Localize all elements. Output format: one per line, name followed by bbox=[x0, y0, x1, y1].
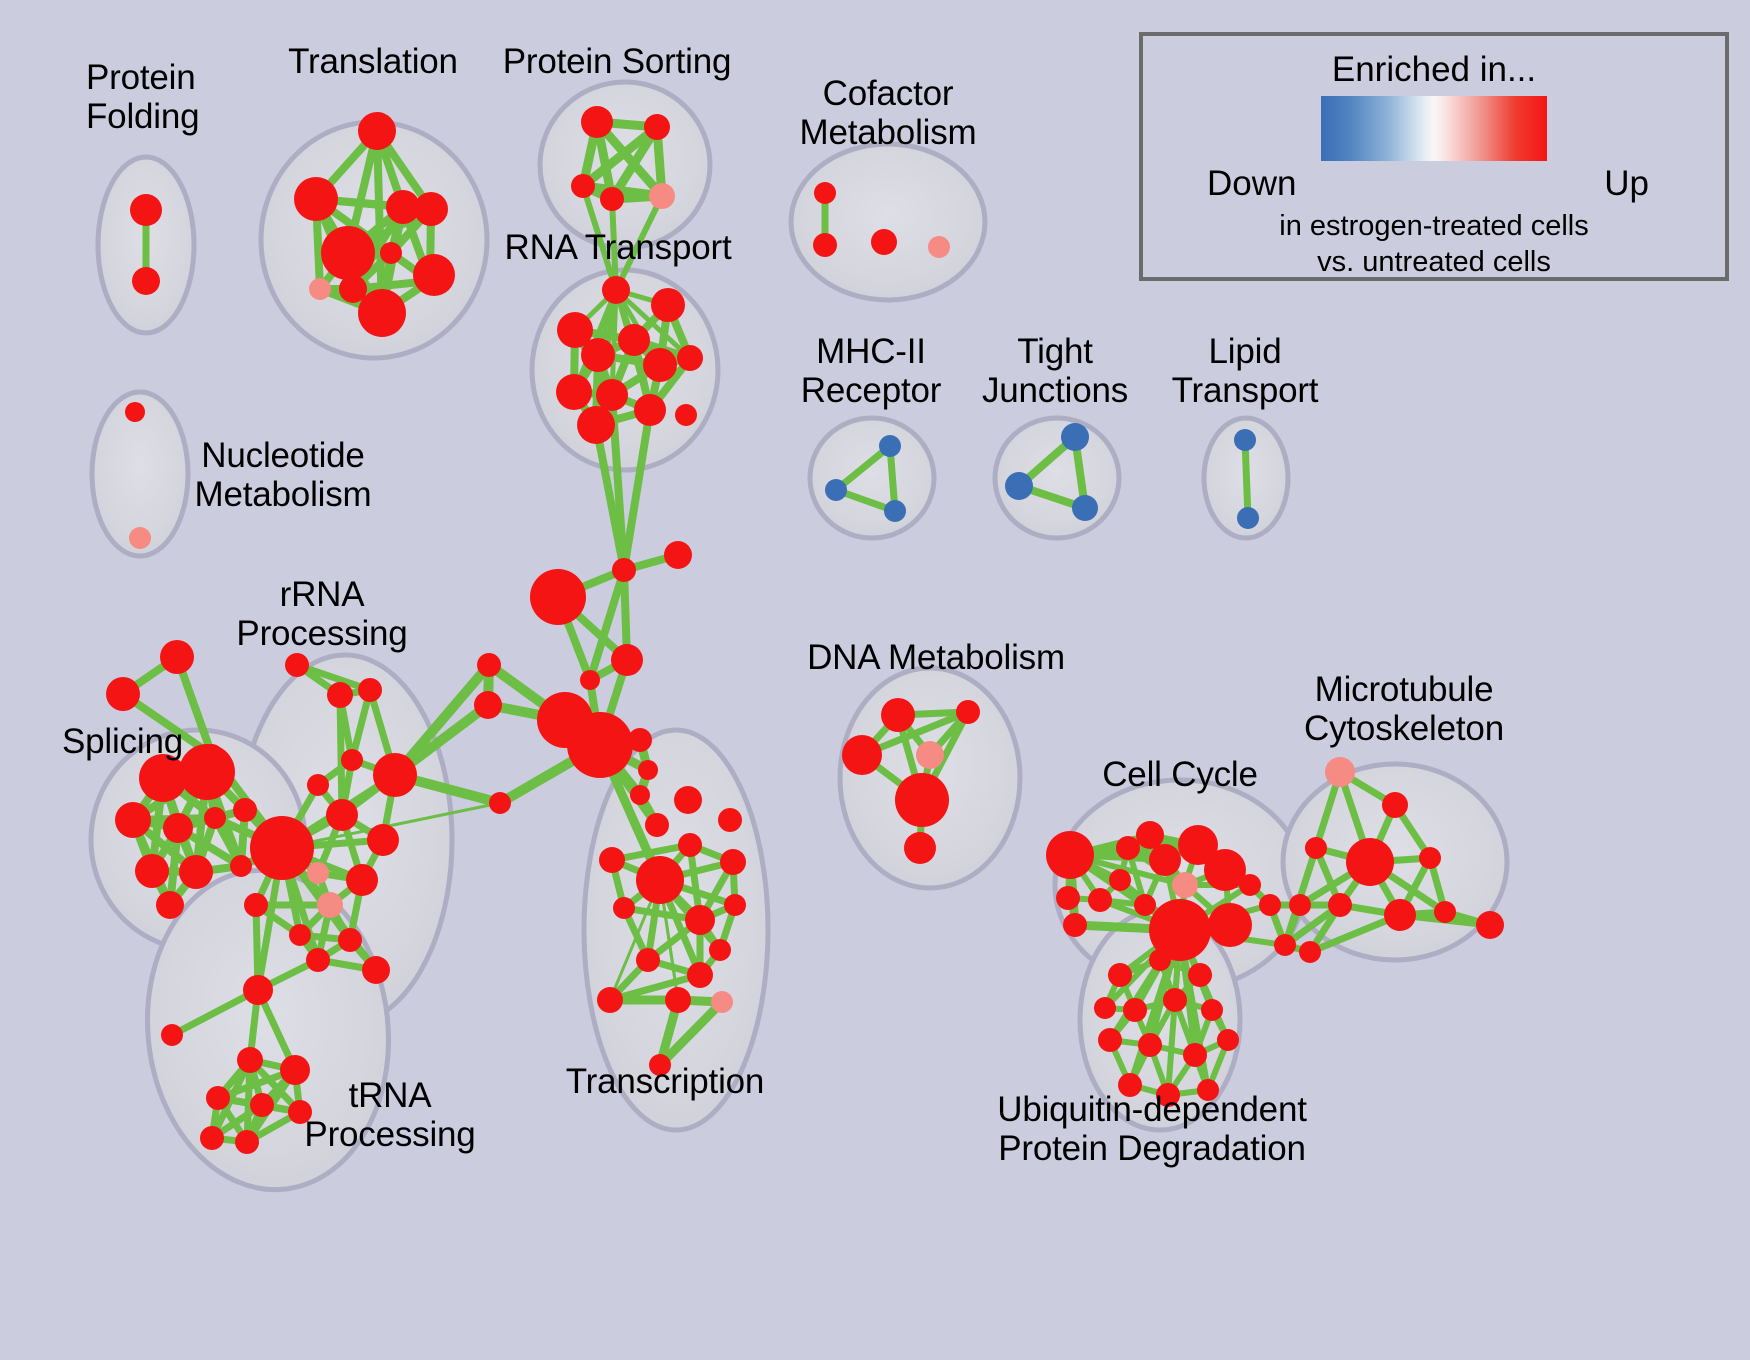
cluster-label-transcription: Transcription bbox=[566, 1062, 764, 1101]
node bbox=[677, 345, 703, 371]
node bbox=[916, 741, 944, 769]
node bbox=[556, 374, 592, 410]
node bbox=[285, 653, 309, 677]
node bbox=[628, 728, 652, 752]
node bbox=[813, 233, 837, 257]
node bbox=[630, 785, 650, 805]
node bbox=[1183, 1043, 1207, 1067]
node bbox=[321, 226, 375, 280]
cluster-label-dna-metabolism: DNA Metabolism bbox=[807, 638, 1065, 677]
node bbox=[1328, 893, 1352, 917]
node bbox=[1063, 913, 1087, 937]
node bbox=[709, 939, 731, 961]
node bbox=[1201, 999, 1223, 1021]
node bbox=[645, 813, 669, 837]
node bbox=[307, 774, 329, 796]
node bbox=[235, 1130, 259, 1154]
node bbox=[250, 1093, 274, 1117]
legend-panel: Enriched in... Down Up in estrogen-treat… bbox=[1139, 32, 1729, 281]
cluster-label-nucleotide-metabolism: Nucleotide Metabolism bbox=[195, 436, 372, 514]
node bbox=[675, 404, 697, 426]
node bbox=[597, 987, 623, 1013]
node bbox=[179, 855, 213, 889]
node bbox=[895, 773, 949, 827]
cluster-label-rrna-processing: rRNA Processing bbox=[236, 575, 407, 653]
node bbox=[825, 479, 847, 501]
node bbox=[1217, 1029, 1239, 1051]
node bbox=[596, 379, 628, 411]
node bbox=[1109, 869, 1131, 891]
node bbox=[367, 824, 399, 856]
node bbox=[1237, 507, 1259, 529]
legend-color-bar bbox=[1321, 96, 1547, 161]
node bbox=[1088, 888, 1112, 912]
node bbox=[156, 891, 184, 919]
node bbox=[1325, 757, 1355, 787]
node bbox=[1094, 997, 1116, 1019]
node bbox=[928, 236, 950, 258]
node bbox=[250, 816, 314, 880]
node bbox=[477, 653, 501, 677]
node bbox=[1098, 1028, 1122, 1052]
legend-subtitle: in estrogen-treated cells vs. untreated … bbox=[1143, 208, 1725, 281]
node bbox=[161, 1024, 183, 1046]
cluster-label-microtubule: Microtubule Cytoskeleton bbox=[1304, 670, 1504, 748]
node bbox=[711, 991, 733, 1013]
node bbox=[643, 348, 677, 382]
node bbox=[106, 677, 140, 711]
node bbox=[537, 692, 593, 748]
node bbox=[317, 892, 343, 918]
node bbox=[611, 644, 643, 676]
node bbox=[651, 288, 685, 322]
node bbox=[1476, 911, 1504, 939]
node bbox=[307, 862, 329, 884]
node bbox=[358, 289, 406, 337]
node bbox=[718, 808, 742, 832]
node bbox=[814, 182, 836, 204]
node bbox=[1108, 963, 1132, 987]
node bbox=[1172, 872, 1198, 898]
node bbox=[1138, 1033, 1162, 1057]
node bbox=[130, 194, 162, 226]
node bbox=[1234, 429, 1256, 451]
cluster-label-tight-junctions: Tight Junctions bbox=[982, 332, 1128, 410]
node bbox=[1305, 837, 1327, 859]
node bbox=[338, 928, 362, 952]
node bbox=[125, 402, 145, 422]
node bbox=[881, 698, 915, 732]
node bbox=[341, 749, 363, 771]
node bbox=[602, 276, 630, 304]
node bbox=[674, 786, 702, 814]
node bbox=[233, 798, 257, 822]
legend-down-label: Down bbox=[1207, 164, 1296, 204]
node bbox=[179, 744, 235, 800]
node bbox=[649, 183, 675, 209]
cluster-label-splicing: Splicing bbox=[62, 722, 183, 761]
legend-subtitle-line-1: in estrogen-treated cells bbox=[1279, 210, 1589, 242]
node bbox=[1123, 998, 1147, 1022]
node bbox=[618, 324, 650, 356]
node bbox=[414, 192, 448, 226]
cluster-label-trna-processing: tRNA Processing bbox=[304, 1076, 475, 1154]
node bbox=[1239, 874, 1261, 896]
node bbox=[294, 177, 338, 221]
node bbox=[613, 897, 635, 919]
cluster-label-cell-cycle: Cell Cycle bbox=[1102, 755, 1258, 794]
node bbox=[1419, 847, 1441, 869]
node bbox=[884, 500, 906, 522]
cluster-label-lipid-transport: Lipid Transport bbox=[1172, 332, 1319, 410]
legend-up-label: Up bbox=[1604, 164, 1649, 204]
node bbox=[474, 691, 502, 719]
node bbox=[665, 987, 691, 1013]
node bbox=[1046, 831, 1094, 879]
node bbox=[358, 678, 382, 702]
node bbox=[373, 753, 417, 797]
node bbox=[1384, 899, 1416, 931]
node bbox=[1136, 821, 1164, 849]
node bbox=[581, 106, 613, 138]
cluster-label-protein-folding: Protein Folding bbox=[86, 58, 199, 136]
node bbox=[644, 114, 670, 140]
node bbox=[132, 267, 160, 295]
cluster-label-mhc-ii-receptor: MHC-II Receptor bbox=[801, 332, 941, 410]
node bbox=[530, 569, 586, 625]
node bbox=[115, 802, 151, 838]
node bbox=[1005, 472, 1033, 500]
node bbox=[163, 813, 193, 843]
node bbox=[636, 856, 684, 904]
node bbox=[571, 174, 595, 198]
node bbox=[1188, 963, 1212, 987]
node bbox=[612, 558, 636, 582]
hull-mhc2 bbox=[810, 418, 934, 538]
node bbox=[599, 847, 625, 873]
node bbox=[489, 792, 511, 814]
node bbox=[581, 338, 615, 372]
node bbox=[1434, 901, 1456, 923]
node bbox=[842, 735, 882, 775]
node bbox=[289, 924, 311, 946]
node bbox=[129, 527, 151, 549]
node bbox=[135, 854, 169, 888]
cluster-label-rna-transport: RNA Transport bbox=[505, 228, 732, 267]
node bbox=[724, 894, 746, 916]
node bbox=[1134, 894, 1156, 916]
node bbox=[634, 394, 666, 426]
node bbox=[664, 541, 692, 569]
node bbox=[577, 406, 615, 444]
node bbox=[636, 948, 660, 972]
node bbox=[309, 278, 331, 300]
hull-cofactor bbox=[791, 144, 985, 300]
node bbox=[204, 807, 226, 829]
legend-title: Enriched in... bbox=[1143, 50, 1725, 90]
node bbox=[237, 1047, 263, 1073]
node bbox=[327, 682, 353, 708]
hull-protein-sorting bbox=[540, 82, 710, 248]
node bbox=[1163, 988, 1187, 1012]
node bbox=[362, 956, 390, 984]
legend-subtitle-line-2: vs. untreated cells bbox=[1317, 246, 1551, 278]
node bbox=[1259, 894, 1281, 916]
node bbox=[871, 229, 897, 255]
node bbox=[1149, 949, 1171, 971]
node bbox=[1116, 836, 1140, 860]
node bbox=[160, 640, 194, 674]
node bbox=[244, 893, 268, 917]
cluster-label-ubiquitin: Ubiquitin-dependent Protein Degradation bbox=[997, 1090, 1307, 1168]
node bbox=[1382, 792, 1408, 818]
node bbox=[1346, 838, 1394, 886]
node bbox=[358, 112, 396, 150]
node bbox=[1149, 844, 1181, 876]
node bbox=[1289, 894, 1311, 916]
node bbox=[206, 1086, 230, 1110]
node bbox=[879, 435, 901, 457]
node bbox=[956, 700, 980, 724]
node bbox=[1299, 941, 1321, 963]
node bbox=[685, 905, 715, 935]
node bbox=[1274, 934, 1296, 956]
node bbox=[720, 849, 746, 875]
node bbox=[1208, 903, 1252, 947]
cluster-label-protein-sorting: Protein Sorting bbox=[503, 42, 732, 81]
node bbox=[380, 242, 402, 264]
node bbox=[687, 962, 713, 988]
enrichment-map-figure: Protein Folding Translation Protein Sort… bbox=[0, 0, 1750, 1360]
node bbox=[1056, 886, 1080, 910]
node bbox=[200, 1126, 224, 1150]
node bbox=[413, 254, 455, 296]
node bbox=[580, 670, 600, 690]
node bbox=[306, 948, 330, 972]
node bbox=[230, 855, 252, 877]
node bbox=[600, 187, 624, 211]
node bbox=[904, 832, 936, 864]
cluster-label-cofactor-metabolism: Cofactor Metabolism bbox=[800, 74, 977, 152]
cluster-label-translation: Translation bbox=[288, 42, 458, 81]
node bbox=[638, 760, 658, 780]
node bbox=[326, 799, 358, 831]
node bbox=[678, 833, 702, 857]
node bbox=[243, 975, 273, 1005]
node bbox=[346, 864, 378, 896]
node bbox=[1072, 495, 1098, 521]
node bbox=[1061, 423, 1089, 451]
